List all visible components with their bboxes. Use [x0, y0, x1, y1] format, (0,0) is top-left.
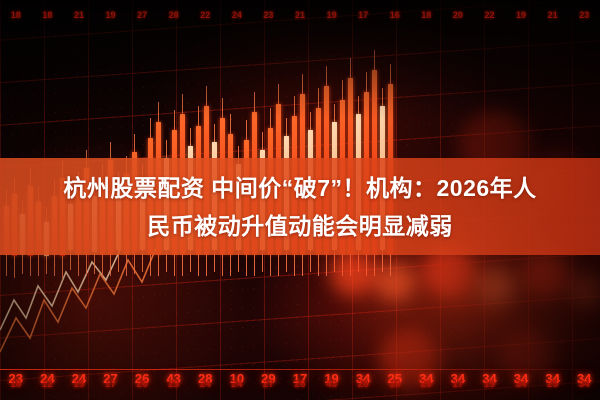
- axis-tick-label: 16: [379, 10, 411, 20]
- axis-tick-label: 27: [126, 10, 158, 20]
- axis-tick-label: 10: [379, 379, 411, 390]
- axis-tick-label: 34: [505, 379, 537, 390]
- axis-tick-label: 17: [442, 379, 474, 390]
- axis-tick-label: 43: [316, 379, 348, 390]
- axis-tick-label: 29: [411, 379, 443, 390]
- axis-tick-label: 28: [347, 379, 379, 390]
- axis-tick-label: 24: [221, 379, 253, 390]
- axis-tick-label: 19: [95, 10, 127, 20]
- axis-tick-label: 24: [189, 379, 221, 390]
- axis-tick-label: 18: [411, 10, 443, 20]
- axis-tick-label: 26: [126, 379, 158, 390]
- axis-tick-label: 21: [537, 10, 569, 20]
- news-banner-image: 18182119272822242321191716182022192123 2…: [0, 0, 600, 400]
- axis-tick-label: 27: [253, 379, 285, 390]
- headline-line-1: 杭州股票配资 中间价“破7”！机构：2026年人: [63, 171, 536, 205]
- axis-tick-label: 19: [505, 10, 537, 20]
- axis-tick-label: 19: [316, 10, 348, 20]
- axis-tick-label: 19: [474, 379, 506, 390]
- axis-tick-label: 23: [253, 10, 285, 20]
- axis-tick-label: 25: [537, 379, 569, 390]
- axis-tick-label: 23: [568, 10, 600, 20]
- headline-line-2: 民币被动升值动能会明显减弱: [147, 209, 453, 243]
- axis-tick-label: 22: [474, 10, 506, 20]
- axis-tick-label: 21: [284, 10, 316, 20]
- axis-tick-label: 17: [347, 10, 379, 20]
- axis-tick-label: 24: [221, 10, 253, 20]
- axis-tick-label: 26: [284, 379, 316, 390]
- axis-tick-label: 22: [189, 10, 221, 20]
- axis-tick-label: 18: [0, 10, 32, 20]
- axis-top-ticks: 18182119272822242321191716182022192123: [0, 6, 600, 24]
- axis-tick-label: 17: [95, 379, 127, 390]
- headline: 杭州股票配资 中间价“破7”！机构：2026年人 民币被动升值动能会明显减弱: [0, 158, 600, 255]
- axis-tick-label: 28: [158, 10, 190, 20]
- axis-tick-label: 18: [32, 10, 64, 20]
- axis-tick-label: 21: [63, 10, 95, 20]
- axis-tick-label: 18: [0, 379, 32, 390]
- axis-tick-label: 34: [568, 379, 600, 390]
- axis-tick-label: 15: [63, 379, 95, 390]
- axis-tick-label: 12: [32, 379, 64, 390]
- axis-tick-label: 23: [158, 379, 190, 390]
- axis-tick-label: 20: [442, 10, 474, 20]
- axis-bottom-ticks-dim: 18121517262324242726432810291719342534: [0, 376, 600, 392]
